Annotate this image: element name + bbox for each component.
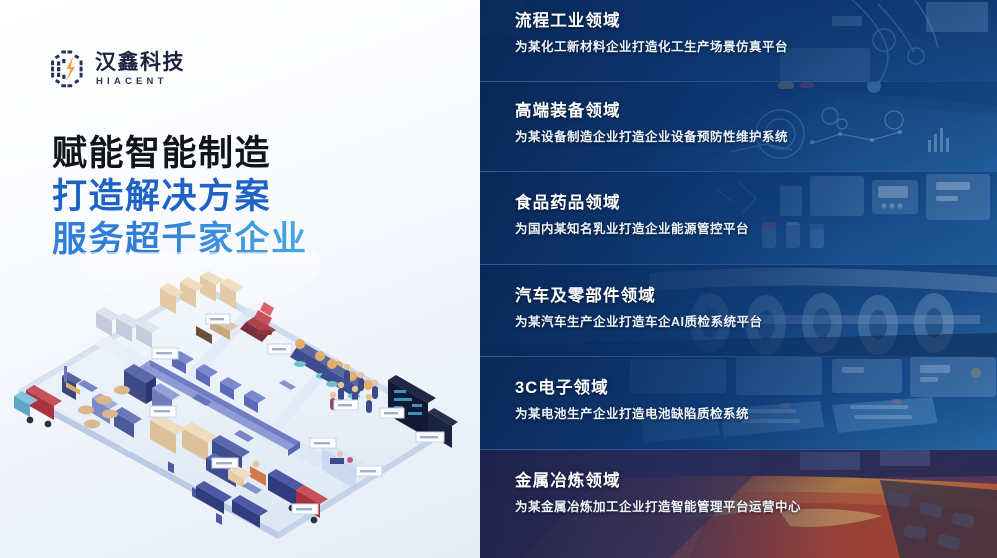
left-panel: 汉鑫科技 HIACENT 赋能智能制造 打造解决方案 服务超千家企业 [0, 0, 480, 558]
headline-line-1: 赋能智能制造 [52, 132, 308, 175]
headline-block: 赋能智能制造 打造解决方案 服务超千家企业 [52, 132, 308, 261]
section-text-metal-smelting: 金属冶炼领域 为某金属冶炼加工企业打造智能管理平台运营中心 [515, 472, 983, 515]
section-title: 食品药品领域 [515, 194, 983, 213]
section-text-high-end-equipment: 高端装备领域 为某设备制造企业打造企业设备预防性维护系统 [515, 102, 983, 145]
isometric-smart-factory-illustration [0, 252, 480, 558]
section-text-food-pharma: 食品药品领域 为国内某知名乳业打造企业能源管控平台 [515, 194, 983, 237]
section-title: 流程工业领域 [515, 12, 983, 31]
section-text-process-industry: 流程工业领域 为某化工新材料企业打造化工生产场景仿真平台 [515, 12, 983, 55]
section-subtitle: 为某汽车生产企业打造车企AI质检系统平台 [515, 315, 983, 330]
section-subtitle: 为某金属冶炼加工企业打造智能管理平台运营中心 [515, 500, 983, 515]
hexagon-circuit-bolt-logo-icon [48, 49, 86, 89]
section-subtitle: 为某化工新材料企业打造化工生产场景仿真平台 [515, 40, 983, 55]
right-panel: 流程工业领域 为某化工新材料企业打造化工生产场景仿真平台 [480, 0, 997, 558]
section-title: 汽车及零部件领域 [515, 287, 983, 306]
headline-line-2: 打造解决方案 [52, 175, 308, 218]
section-food-pharma[interactable]: 食品药品领域 为国内某知名乳业打造企业能源管控平台 [480, 172, 997, 265]
brand-wordmark: 汉鑫科技 HIACENT [95, 52, 185, 87]
section-high-end-equipment[interactable]: 高端装备领域 为某设备制造企业打造企业设备预防性维护系统 [480, 82, 997, 172]
brand-logo[interactable]: 汉鑫科技 HIACENT [48, 49, 185, 89]
slide-root: 汉鑫科技 HIACENT 赋能智能制造 打造解决方案 服务超千家企业 [0, 0, 997, 558]
section-title: 高端装备领域 [515, 102, 983, 121]
section-3c-electronics[interactable]: 3C电子领域 为某电池生产企业打造电池缺陷质检系统 [480, 357, 997, 450]
section-text-3c-electronics: 3C电子领域 为某电池生产企业打造电池缺陷质检系统 [515, 379, 983, 422]
section-subtitle: 为某设备制造企业打造企业设备预防性维护系统 [515, 130, 983, 145]
section-title: 金属冶炼领域 [515, 472, 983, 491]
brand-name-cn: 汉鑫科技 [95, 52, 185, 73]
factory-diagram-icon [0, 252, 480, 558]
section-process-industry[interactable]: 流程工业领域 为某化工新材料企业打造化工生产场景仿真平台 [480, 0, 997, 82]
brand-name-en: HIACENT [95, 77, 185, 87]
section-subtitle: 为某电池生产企业打造电池缺陷质检系统 [515, 407, 983, 422]
section-text-automotive-parts: 汽车及零部件领域 为某汽车生产企业打造车企AI质检系统平台 [515, 287, 983, 330]
section-metal-smelting[interactable]: 金属冶炼领域 为某金属冶炼加工企业打造智能管理平台运营中心 [480, 450, 997, 558]
section-title: 3C电子领域 [515, 379, 983, 398]
section-automotive-parts[interactable]: 汽车及零部件领域 为某汽车生产企业打造车企AI质检系统平台 [480, 265, 997, 357]
section-subtitle: 为国内某知名乳业打造企业能源管控平台 [515, 222, 983, 237]
